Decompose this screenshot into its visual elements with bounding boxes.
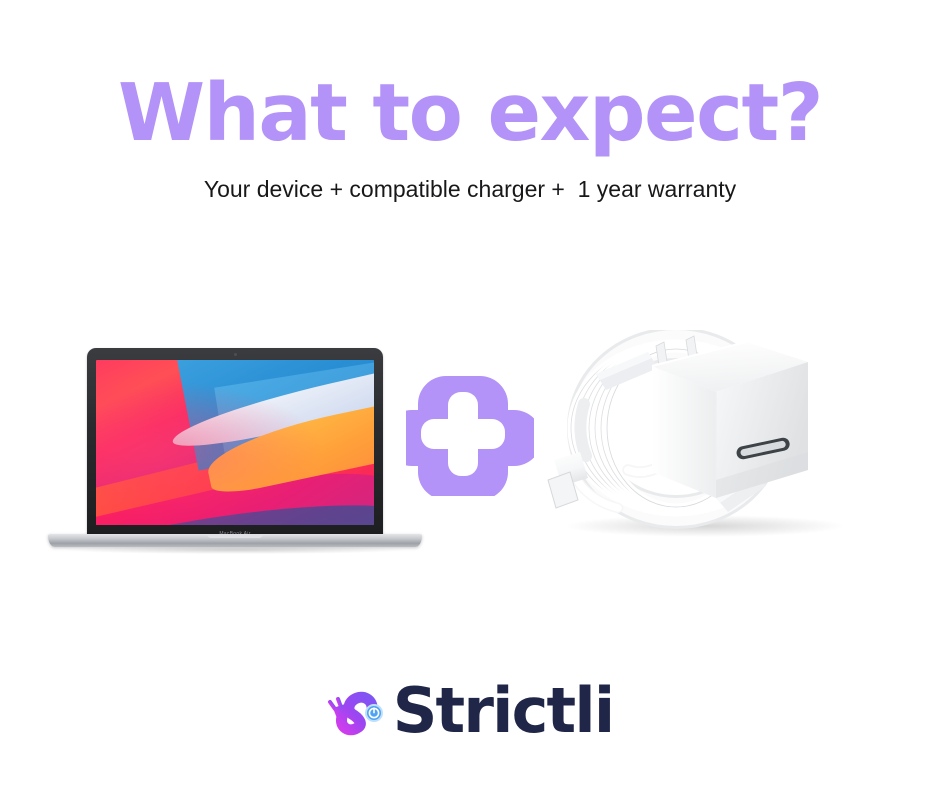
page-subtitle: Your device + compatible charger + 1 yea… — [0, 176, 940, 204]
wallpaper-glow — [96, 360, 374, 525]
brand-name: Strictli — [393, 680, 614, 742]
brand-logo: Strictli — [0, 668, 940, 754]
plus-badge-icon — [406, 374, 534, 496]
charger-image — [540, 330, 885, 550]
plug-power-icon — [327, 683, 389, 745]
power-adapter — [652, 336, 808, 498]
product-showcase: MacBook Air — [0, 300, 940, 560]
laptop-shadow — [66, 546, 406, 554]
webcam-icon — [234, 353, 237, 356]
laptop-image: MacBook Air — [48, 320, 422, 560]
page-title: What to expect? — [0, 74, 940, 153]
laptop-lid: MacBook Air — [87, 348, 383, 538]
laptop-screen — [96, 360, 374, 525]
laptop-latch-notch — [207, 534, 263, 538]
